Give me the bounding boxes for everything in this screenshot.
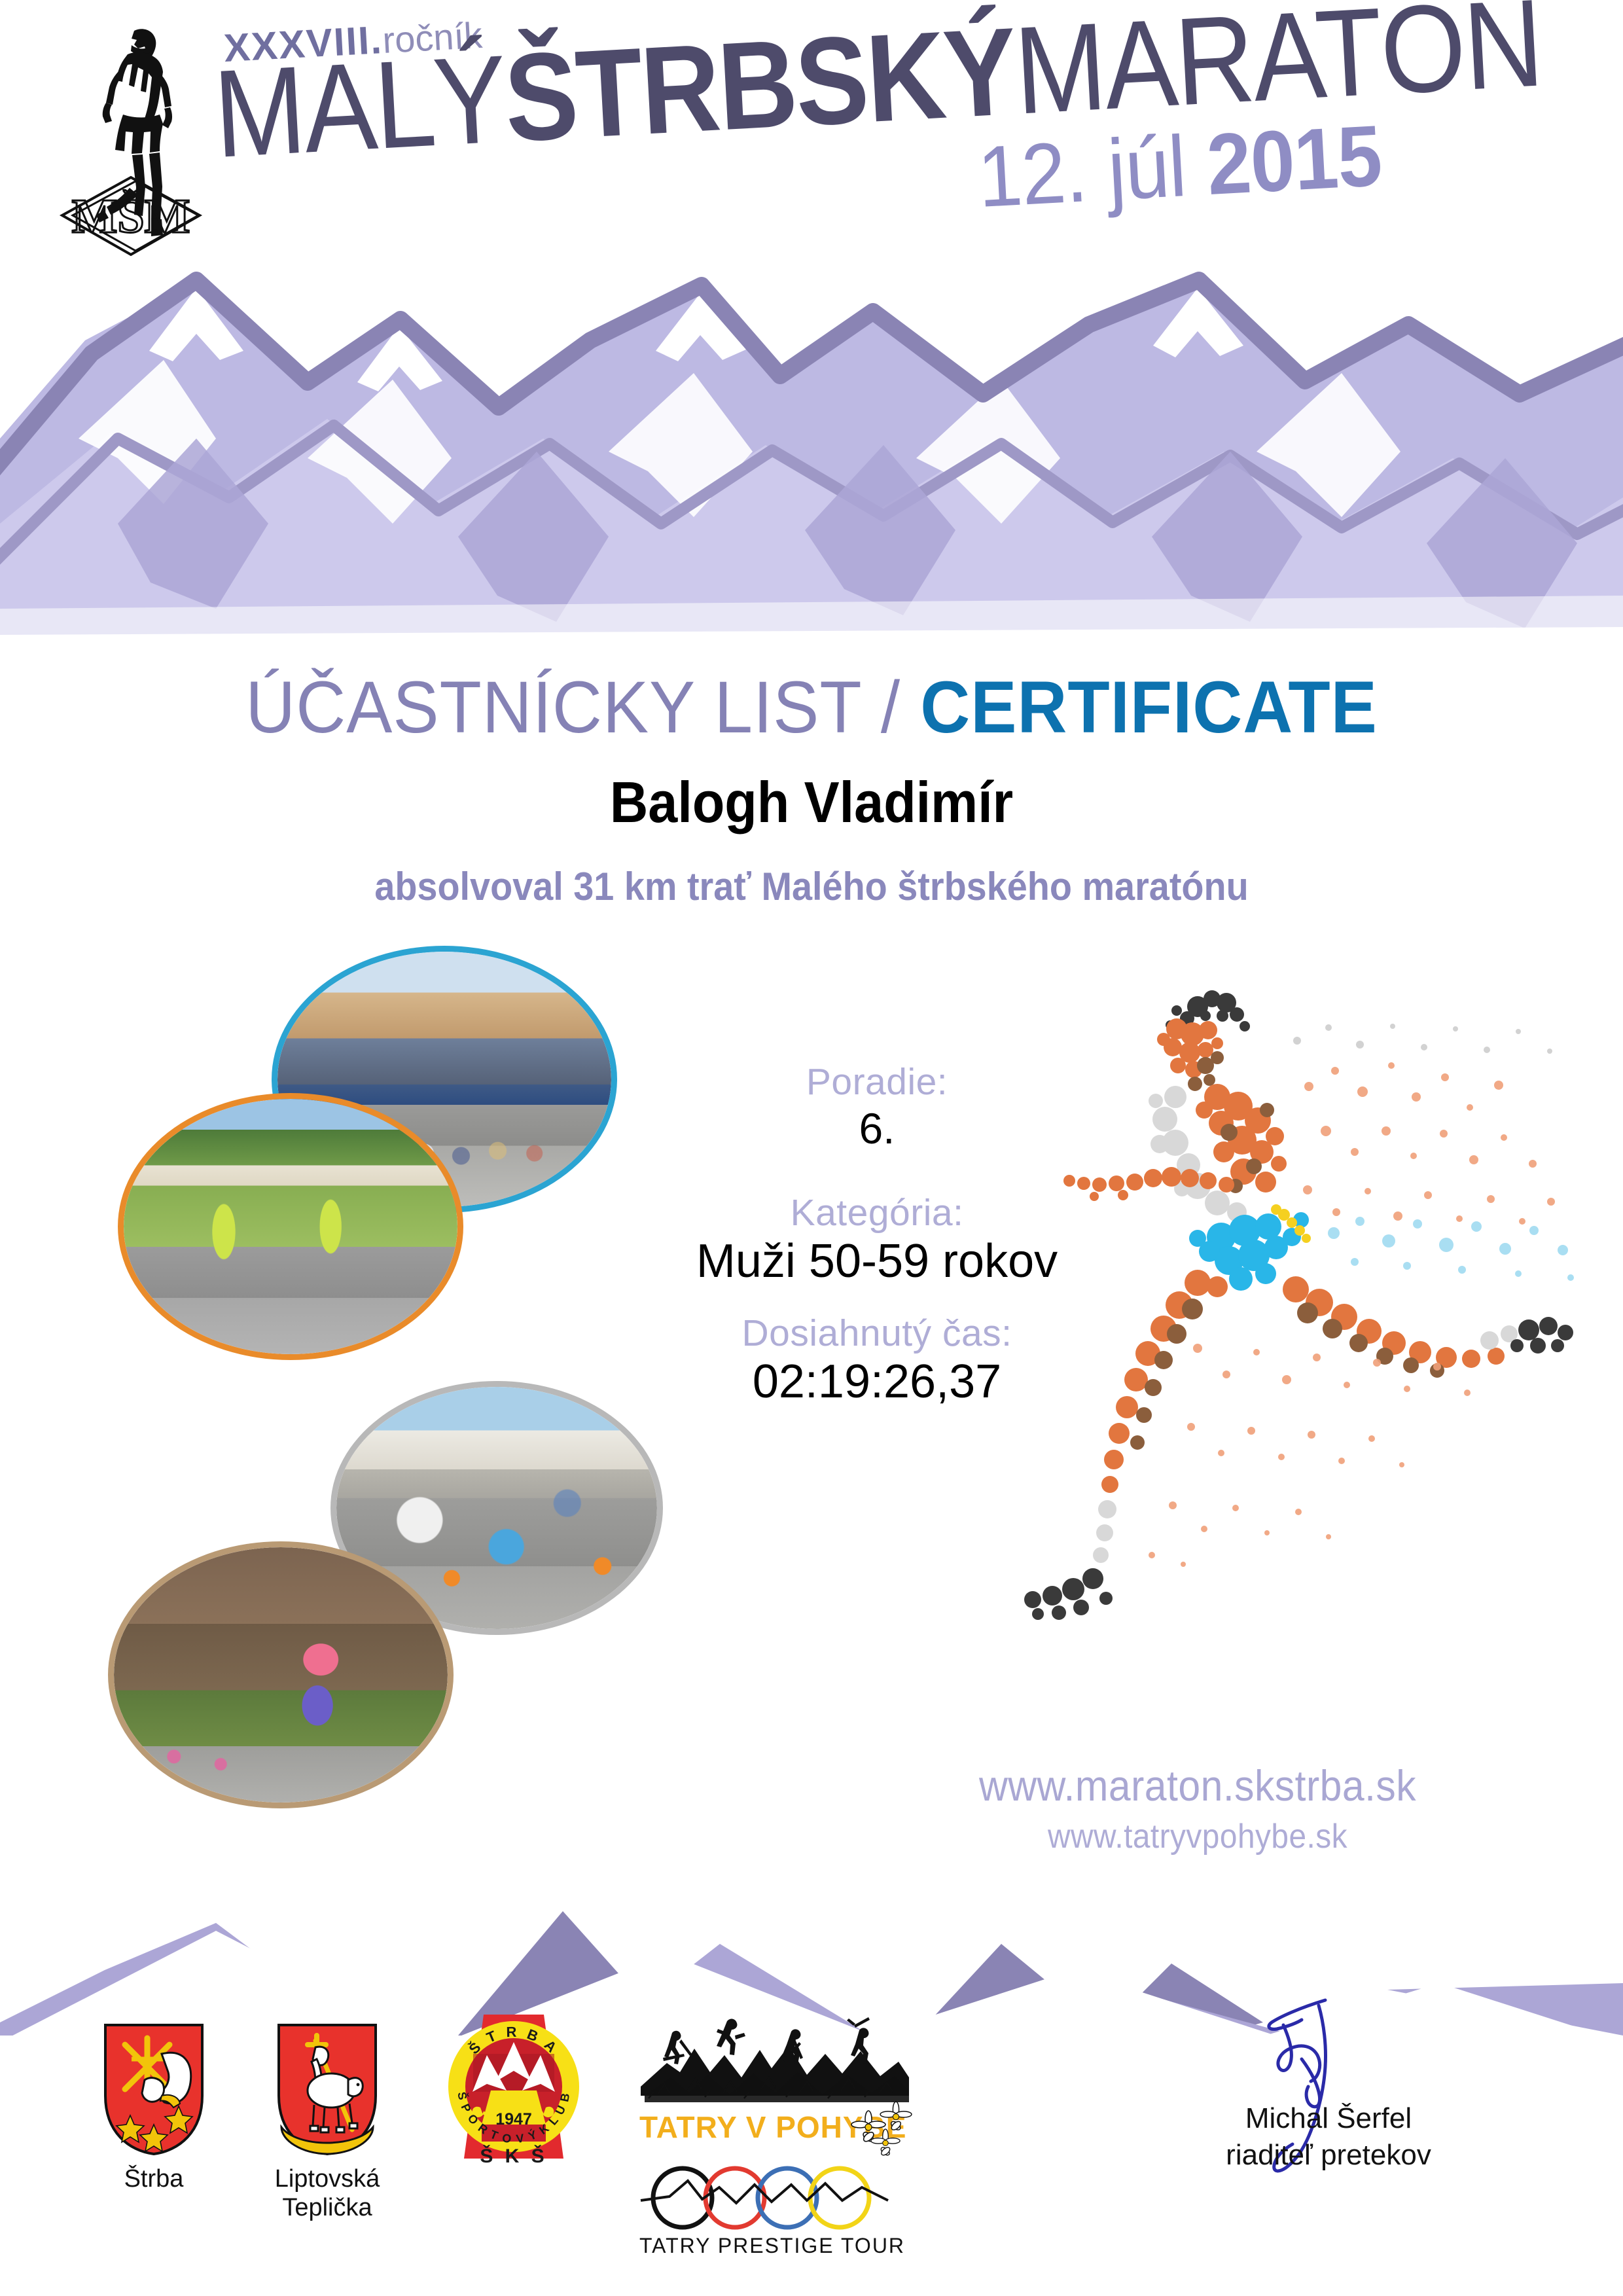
photo-collage: [92, 929, 681, 1820]
event-date: 12. júl 2015: [975, 106, 1383, 226]
tatry-logos-group: TATRY V POHYBE: [628, 2009, 916, 2265]
sks-club-logo-mark: 1947 Š T R B A Š P O R T O V Ý K L U B Š…: [444, 2008, 584, 2172]
event-date-year: 2015: [1204, 107, 1383, 213]
certificate-title: ÚČASTNÍCKY LIST / CERTIFICATE: [48, 671, 1574, 744]
photo-woman-runner: [108, 1541, 454, 1808]
signature-role: riaditeľ pretekov: [1099, 2139, 1558, 2172]
certificate-page: MŠM XXXVIII.ročník MALÝŠTRBSKÝMARATÓN 12…: [0, 0, 1623, 2296]
signature-name: Michal Šerfel: [1099, 2102, 1558, 2135]
coat-of-arms-liptovska-teplicka: Liptovská Teplička: [242, 2022, 412, 2222]
certificate-title-en: CERTIFICATE: [920, 666, 1378, 748]
msm-runner-logo: MŠM: [36, 16, 226, 265]
photo-woman-runner-image: [114, 1547, 448, 1803]
coat-of-arms-liptovska-teplicka-caption-line1: Liptovská: [242, 2164, 412, 2193]
coat-of-arms-liptovska-teplicka-shield: [275, 2022, 380, 2157]
sks-club-logo: 1947 Š T R B A Š P O R T O V Ý K L U B Š…: [432, 2008, 596, 2172]
coat-of-arms-strba: Štrba: [79, 2022, 229, 2193]
primary-website-link[interactable]: www.maraton.skstrba.sk: [842, 1761, 1553, 1810]
dot-mosaic-runner: [1001, 956, 1590, 1728]
sks-club-logo-year: 1947: [495, 2110, 532, 2128]
secondary-website-link[interactable]: www.tatryvpohybe.sk: [842, 1817, 1553, 1856]
event-date-day: 12.: [975, 122, 1111, 225]
event-title-block: XXXVIII.ročník MALÝŠTRBSKÝMARATÓN 12. jú…: [209, 0, 1609, 281]
page-footer: Štrba: [0, 1983, 1623, 2296]
signature-block: Michal Šerfel riaditeľ pretekov: [1099, 1996, 1558, 2172]
title-part-strbsky: ŠTRBSKÝ: [501, 2, 1019, 168]
website-links: www.maraton.skstrba.sk www.tatryvpohybe.…: [811, 1761, 1584, 1856]
tatry-prestige-tour-wordmark: TATRY PRESTIGE TOUR: [639, 2234, 905, 2257]
tatry-prestige-tour-rings: [641, 2168, 888, 2227]
title-part-maly: MALÝ: [211, 29, 509, 184]
photo-two-runners-image: [124, 1099, 457, 1354]
mountain-banner-top: [0, 242, 1623, 668]
certificate-title-sk: ÚČASTNÍCKY LIST: [245, 666, 861, 748]
coat-of-arms-liptovska-teplicka-caption-line2: Teplička: [242, 2193, 412, 2222]
coat-of-arms-strba-shield: [101, 2022, 206, 2157]
event-date-month: júl: [1105, 117, 1209, 218]
page-header: MŠM XXXVIII.ročník MALÝŠTRBSKÝMARATÓN 12…: [0, 0, 1623, 655]
sks-club-logo-abbr: Š K Š: [480, 2145, 547, 2167]
achievement-line: absolvoval 31 km trať Malého štrbského m…: [57, 864, 1566, 909]
certificate-title-separator: /: [861, 666, 921, 748]
msm-monogram: MŠM: [72, 190, 190, 243]
tatry-v-pohybe-logo: TATRY V POHYBE: [632, 2009, 913, 2265]
coat-of-arms-strba-caption: Štrba: [79, 2164, 229, 2193]
athlete-name: Balogh Vladimír: [65, 769, 1558, 836]
photo-two-runners: [118, 1093, 463, 1360]
